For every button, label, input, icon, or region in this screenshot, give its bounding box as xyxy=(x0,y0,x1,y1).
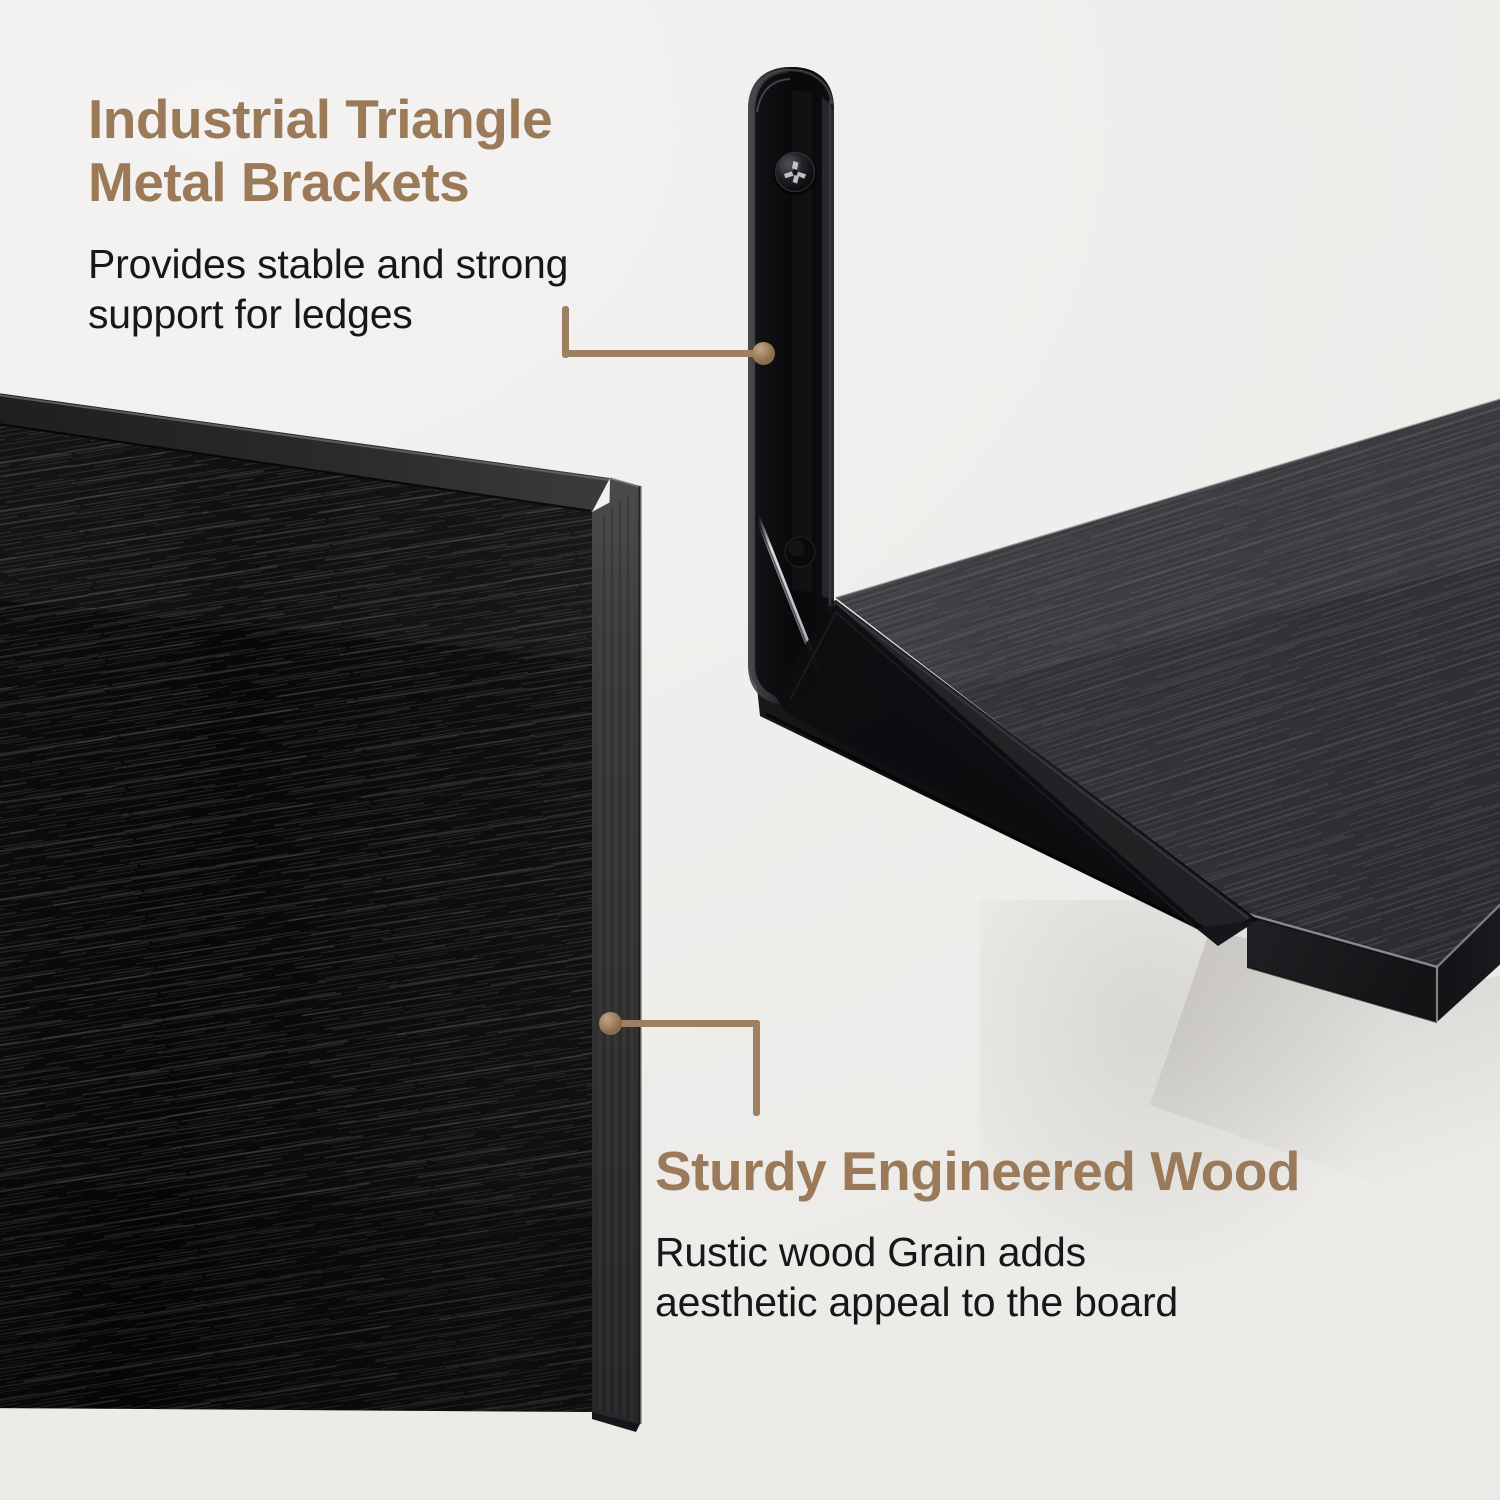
leader-segment-vertical xyxy=(753,1020,760,1116)
leader-segment-horizontal xyxy=(618,1020,760,1027)
bracket-gusset xyxy=(770,604,1206,930)
callout-engineered-wood: Sturdy Engineered Wood Rustic wood Grain… xyxy=(655,1140,1455,1327)
infographic-canvas: Industrial Triangle Metal Brackets Provi… xyxy=(0,0,1500,1500)
leader-endpoint-dot xyxy=(599,1012,622,1035)
leader-segment-horizontal xyxy=(562,350,762,357)
callout-headline: Sturdy Engineered Wood xyxy=(655,1140,1455,1203)
callout-metal-brackets: Industrial Triangle Metal Brackets Provi… xyxy=(88,88,768,339)
leader-endpoint-dot xyxy=(752,342,775,365)
callout-subline: Rustic wood Grain adds aesthetic appeal … xyxy=(655,1227,1455,1327)
callout-subline: Provides stable and strong support for l… xyxy=(88,239,768,339)
callout-headline: Industrial Triangle Metal Brackets xyxy=(88,88,768,213)
phillips-screw-lower xyxy=(785,537,815,567)
